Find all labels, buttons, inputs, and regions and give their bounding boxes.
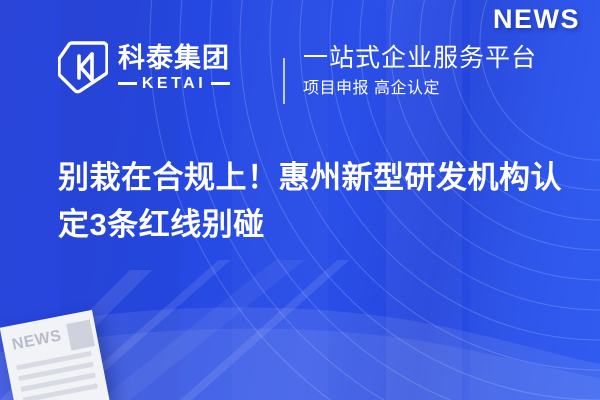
brand-name-cn: 科泰集团: [118, 44, 230, 72]
tagline-sub: 项目申报 高企认定: [303, 79, 537, 98]
brand-name-en-row: KETAI: [118, 76, 230, 92]
page-title: 别栽在合规上！惠州新型研发机构认定3条红线别碰: [58, 154, 568, 248]
brand-name-en: KETAI: [142, 76, 206, 92]
news-banner: 科泰集团 KETAI 一站式企业服务平台 项目申报 高企认定 NEWS 别栽在合…: [0, 0, 600, 400]
brand-logo[interactable]: 科泰集团 KETAI: [58, 40, 230, 94]
rule-left-icon: [118, 82, 137, 85]
brand-wordmark: 科泰集团 KETAI: [118, 42, 230, 91]
vertical-divider-icon: [283, 58, 285, 104]
news-label: NEWS: [493, 6, 580, 33]
image-placeholder-icon: [66, 320, 95, 351]
tagline-block: 一站式企业服务平台 项目申报 高企认定: [303, 44, 537, 98]
banner-header: 科泰集团 KETAI 一站式企业服务平台 项目申报 高企认定 NEWS: [0, 0, 600, 130]
newspaper-card: NEWS: [0, 310, 110, 400]
ketai-monogram-icon: [58, 40, 108, 94]
tagline-main: 一站式企业服务平台: [303, 44, 537, 73]
rule-right-icon: [211, 82, 230, 85]
newspaper-title: NEWS: [10, 325, 63, 353]
